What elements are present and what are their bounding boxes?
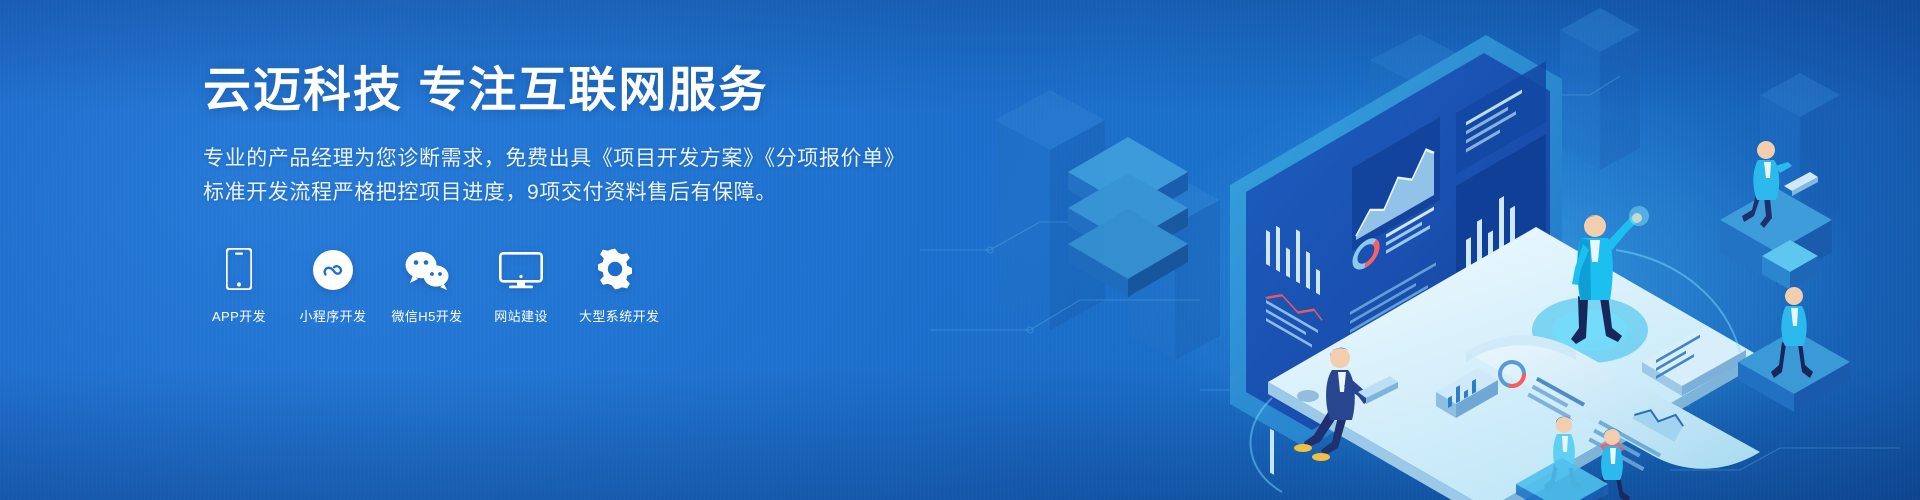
- page-title: 云迈科技 专注互联网服务: [203, 62, 963, 120]
- service-label: 小程序开发: [297, 306, 369, 325]
- service-item-mini-program[interactable]: 小程序开发: [297, 242, 369, 325]
- service-item-large-system[interactable]: 大型系统开发: [579, 242, 651, 325]
- mini-program-icon: [297, 242, 369, 290]
- monitor-icon: [485, 242, 557, 290]
- gear-icon: [579, 242, 651, 290]
- service-label: 网站建设: [485, 306, 557, 325]
- banner-copy: 云迈科技 专注互联网服务 专业的产品经理为您诊断需求，免费出具《项目开发方案》《…: [203, 62, 963, 325]
- subtitle-line-1: 专业的产品经理为您诊断需求，免费出具《项目开发方案》《分项报价单》: [203, 142, 963, 176]
- isometric-tech-dashboard-illustration: [900, 0, 1920, 500]
- service-label: 大型系统开发: [579, 306, 651, 325]
- service-item-wechat-h5[interactable]: 微信H5开发: [391, 242, 463, 325]
- service-item-app[interactable]: APP开发: [203, 242, 275, 325]
- service-item-website[interactable]: 网站建设: [485, 242, 557, 325]
- hero-banner: 云迈科技 专注互联网服务 专业的产品经理为您诊断需求，免费出具《项目开发方案》《…: [0, 0, 1920, 500]
- service-label: 微信H5开发: [391, 306, 463, 325]
- subtitle-block: 专业的产品经理为您诊断需求，免费出具《项目开发方案》《分项报价单》 标准开发流程…: [203, 142, 963, 210]
- mobile-phone-icon: [203, 242, 275, 290]
- service-list: APP开发 小程序开发: [203, 242, 963, 325]
- subtitle-line-2: 标准开发流程严格把控项目进度，9项交付资料售后有保障。: [203, 176, 963, 210]
- wechat-icon: [391, 242, 463, 290]
- service-label: APP开发: [203, 306, 275, 325]
